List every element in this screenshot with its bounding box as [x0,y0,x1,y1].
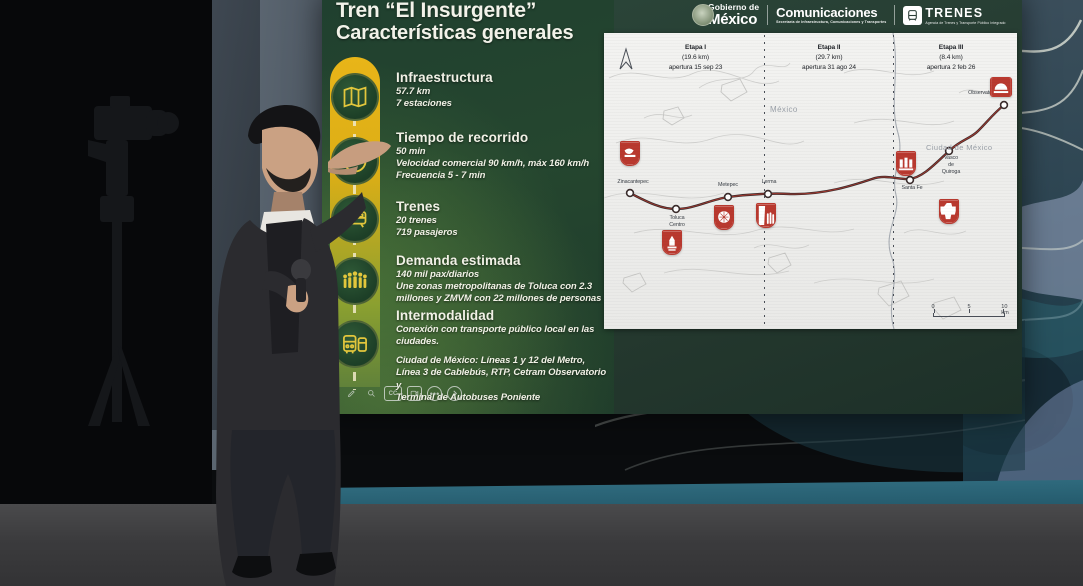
train-front-icon [906,9,919,22]
stage-label-etapa-2: Etapa II (29.7 km) apertura 31 ago 24 [768,43,890,74]
speaker-legs [214,430,364,586]
crest-art [991,78,1011,96]
camera-body [94,106,152,140]
section-line: 140 mil pax/diarios [396,269,611,281]
state-label-mexico: México [770,105,798,114]
crest-art [715,206,733,229]
camera-viewfinder [110,96,130,108]
stage-name: Etapa III [896,43,1006,53]
station-label-toluca-centro: TolucaCentro [654,215,700,229]
section-infraestructura: Infraestructura 57.7 km 7 estaciones [396,70,611,110]
person-raised-arm [310,192,366,252]
section-line: 20 trenes [396,215,611,227]
header-divider [767,5,768,25]
stage-opening: apertura 15 sep 23 [628,63,763,73]
speaker-hand-on-screen [328,132,392,176]
more-options-icon[interactable]: ••• [427,386,442,401]
magnifier-icon[interactable] [364,386,379,401]
section-line: Conexión con transporte público local en… [396,324,611,336]
stage-scene: Tren “El Insurgente” Características gen… [0,0,1083,586]
station-label-santa-fe: Santa Fe [892,185,932,192]
stage-floor [0,504,1083,586]
tripod-head [100,196,134,222]
closed-captions-icon[interactable]: CC [384,386,402,401]
video-icon[interactable] [407,386,422,401]
santa-fe-crest [896,151,916,176]
section-heading: Demanda estimada [396,253,611,268]
stage-opening: apertura 2 feb 26 [896,63,1006,73]
lerma-crest [756,203,776,228]
gov-line1: Gobierno de [708,3,759,12]
section-line: 50 min [396,146,611,158]
shoe-left [232,556,272,578]
stage-name: Etapa II [768,43,890,53]
state-label-ciudad-de-mexico: Ciudad de México [926,143,992,152]
crest-art [897,152,915,175]
section-line: 7 estaciones [396,98,611,110]
government-header: Gobierno de México Comunicaciones Secret… [596,0,1022,30]
section-tiempo-de-recorrido: Tiempo de recorrido 50 min Velocidad com… [396,130,611,182]
gov-line2: México [708,12,759,27]
trenes-line1: TRENES [925,6,1005,20]
section-line: millones y ZMVM con 22 millones de perso… [396,293,611,305]
section-line: Frecuencia 5 - 7 min [396,170,611,182]
station-label-zinacantepec: Zinacantepec [604,179,662,186]
microphone-body [296,278,306,302]
route-map[interactable]: Etapa I (19.6 km) apertura 15 sep 23 Eta… [604,33,1017,329]
stage-divider-2 [893,35,894,327]
crest-art [940,200,958,223]
forward-arrow-glyph [450,389,459,398]
comms-line1: Comunicaciones [776,6,886,19]
section-extra-line: Ciudad de México: Líneas 1 y 12 del Metr… [396,355,611,367]
section-line: 719 pasajeros [396,227,611,239]
tripod-leg-right [118,346,150,426]
stage-name: Etapa I [628,43,763,53]
tripod-column [112,222,122,422]
station-label-lerma: Lerma [750,179,788,186]
section-demanda-estimada: Demanda estimada 140 mil pax/diarios Une… [396,253,611,305]
scale-bar-line [933,313,1005,317]
section-heading: Tiempo de recorrido [396,130,611,145]
crest-art [663,231,681,254]
gobierno-de-mexico-logo: Gobierno de México [708,3,759,28]
observatorio-crest [990,77,1012,97]
trenes-wordmark: TRENES Agencia de Trenes y Transporte Pú… [925,6,1005,25]
station-label-vasco-de-quiroga: VascodeQuiroga [934,155,968,175]
camera-mount [106,140,128,196]
section-heading: Intermodalidad [396,308,611,323]
camera-battery [88,140,106,162]
stage-length: (19.6 km) [628,53,763,63]
forward-arrow-icon[interactable] [447,386,462,401]
stage-opening: apertura 31 ago 24 [768,63,890,73]
magnifier-glyph [367,389,376,398]
stage-length: (29.7 km) [768,53,890,63]
crest-art [757,204,775,227]
shoe-right [296,552,336,576]
stage-label-etapa-1: Etapa I (19.6 km) apertura 15 sep 23 [628,43,763,74]
metepec-crest [714,205,734,230]
trenes-logo-block: TRENES Agencia de Trenes y Transporte Pú… [903,6,1005,25]
section-line: Velocidad comercial 90 km/h, máx 160 km/… [396,158,611,170]
section-heading: Infraestructura [396,70,611,85]
section-trenes: Trenes 20 trenes 719 pasajeros [396,199,611,239]
section-line: Une zonas metropolitanas de Toluca con 2… [396,281,611,293]
station-label-metepec: Metepec [705,182,751,189]
trenes-mark-icon [903,6,922,25]
stage-length: (8.4 km) [896,53,1006,63]
header-divider [894,5,895,25]
comunicaciones-logo: Comunicaciones Secretaría de Infraestruc… [776,6,886,25]
crest-art [621,142,639,165]
section-heading: Trenes [396,199,611,214]
microphone-head [291,259,311,281]
section-line: 57.7 km [396,86,611,98]
broadcast-camera [76,96,196,426]
camera-lens-front [157,112,179,134]
stage-label-etapa-3: Etapa III (8.4 km) apertura 2 feb 26 [896,43,1006,74]
map-scale-bar: 0 5 10 km [933,304,1005,317]
section-line: ciudades. [396,336,611,348]
video-glyph [410,389,419,398]
map-terrain-outlines [604,33,1017,329]
comms-line2: Secretaría de Infraestructura, Comunicac… [776,21,886,25]
vasco-de-quiroga-crest [939,199,959,224]
zinacantepec-crest [620,141,640,166]
toluca-crest [662,230,682,255]
trenes-line2: Agencia de Trenes y Transporte Público I… [925,21,1005,25]
mexico-seal-icon [692,4,714,26]
